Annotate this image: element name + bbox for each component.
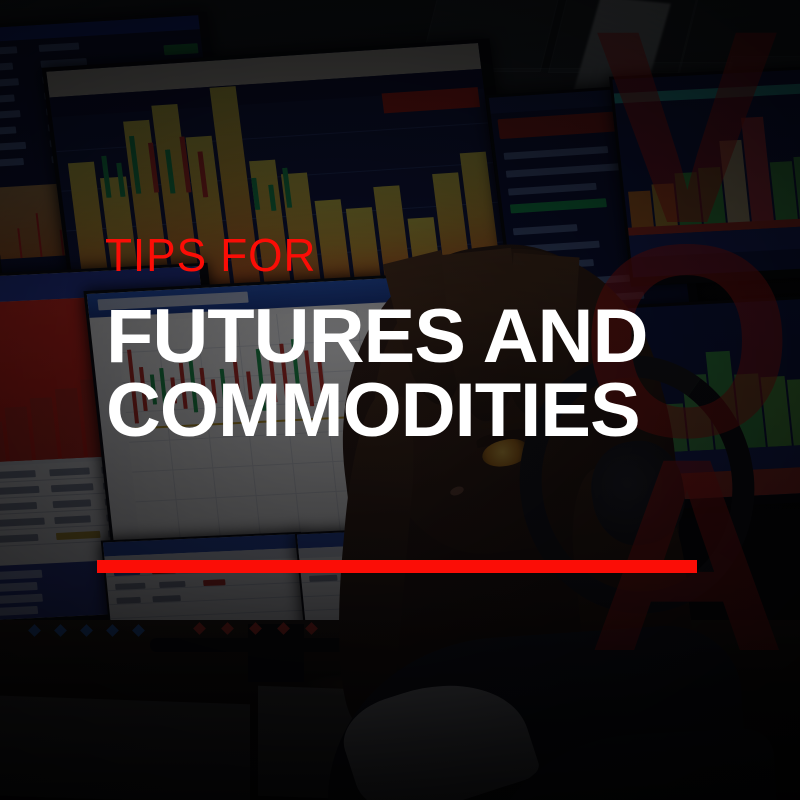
headline-line-1: FUTURES AND (106, 300, 738, 374)
poster-canvas: V O A TIPS FOR FUTURES AND COMMODITIES (0, 0, 800, 800)
headline-line-2: COMMODITIES (106, 374, 726, 448)
accent-underline (97, 560, 697, 573)
eyebrow-text: TIPS FOR (105, 232, 316, 278)
headline: FUTURES AND COMMODITIES (106, 300, 726, 449)
title-overlay: TIPS FOR FUTURES AND COMMODITIES (0, 0, 800, 800)
